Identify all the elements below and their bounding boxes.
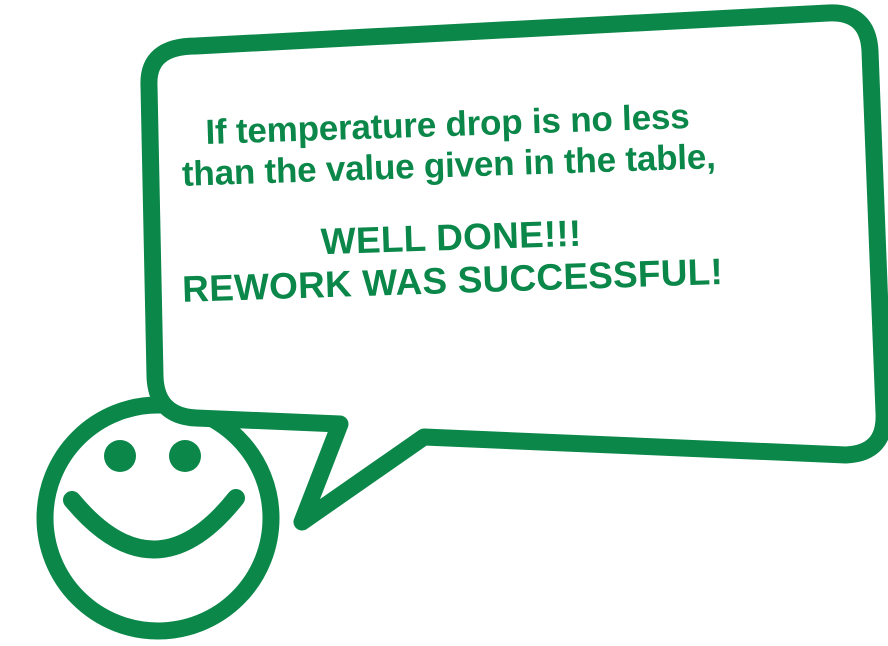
smiley-mouth [72,498,236,550]
smiley-right-eye [169,440,201,472]
smiley-left-eye [104,440,136,472]
speech-bubble-outline [149,13,884,522]
speech-bubble-illustration [0,0,888,646]
screenshot-canvas: If temperature drop is no less than the … [0,0,888,646]
